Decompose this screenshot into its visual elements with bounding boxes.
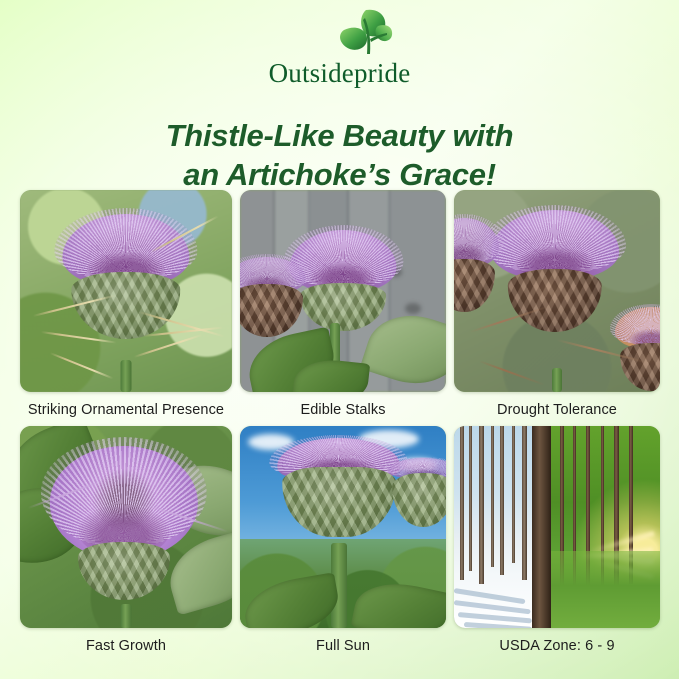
feature-caption: Fast Growth [86,638,166,654]
brand-logo: Outsidepride [0,6,679,88]
feature-image-full-sun [240,426,446,628]
feature-image-fast-growth [20,426,232,628]
feature-grid: Striking Ornamental Presence [20,190,660,654]
leaf-sprig-icon [332,6,394,58]
feature-card: Edible Stalks [240,190,446,418]
feature-caption: USDA Zone: 6 - 9 [499,638,614,654]
feature-image-striking-ornamental-presence [20,190,232,392]
page-title: Thistle-Like Beauty with an Artichoke’s … [0,116,679,195]
feature-card: Drought Tolerance [454,190,660,418]
brand-wordmark: Outsidepride [0,58,679,89]
feature-card: USDA Zone: 6 - 9 [454,426,660,654]
feature-image-drought-tolerance [454,190,660,392]
feature-card: Fast Growth [20,426,232,654]
feature-image-usda-zone [454,426,660,628]
feature-card: Striking Ornamental Presence [20,190,232,418]
feature-caption: Striking Ornamental Presence [28,402,224,418]
feature-caption: Drought Tolerance [497,402,617,418]
feature-card: Full Sun [240,426,446,654]
feature-caption: Full Sun [316,638,370,654]
product-infographic: Outsidepride Thistle-Like Beauty with an… [0,0,679,679]
feature-image-edible-stalks [240,190,446,392]
headline-line-1: Thistle-Like Beauty with [0,116,679,156]
feature-caption: Edible Stalks [300,402,385,418]
